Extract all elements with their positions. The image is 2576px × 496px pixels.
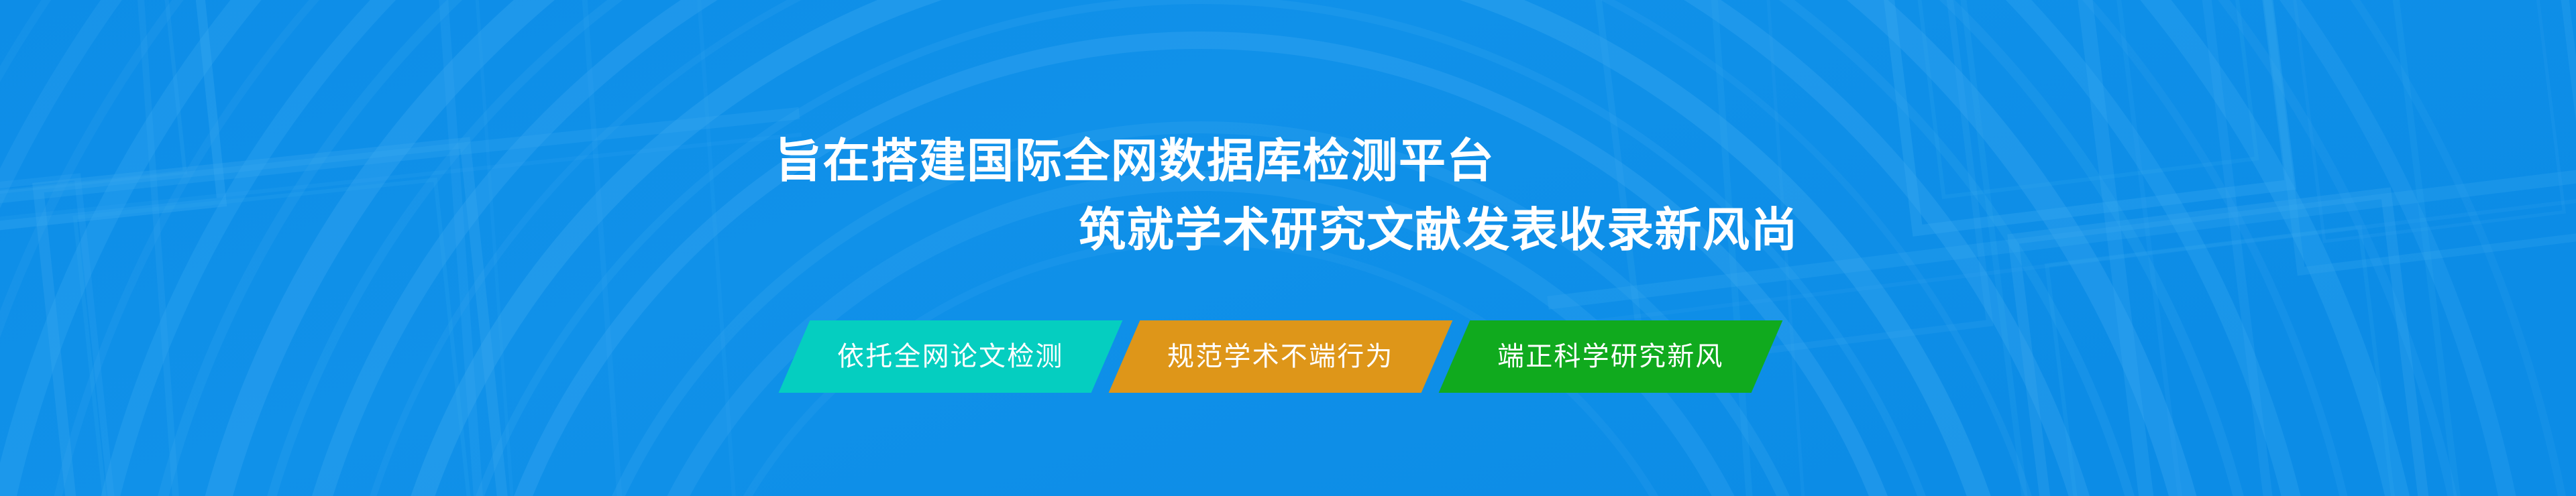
headline-line-2: 筑就学术研究文献发表收录新风尚 bbox=[1079, 203, 1799, 257]
headline-line-1: 旨在搭建国际全网数据库检测平台 bbox=[775, 134, 1495, 188]
feature-tag-strip: 依托全网论文检测 规范学术不端行为 端正科学研究新风 bbox=[0, 320, 2576, 393]
tag-detect[interactable]: 依托全网论文检测 bbox=[779, 320, 1123, 393]
headline-block: 旨在搭建国际全网数据库检测平台 筑就学术研究文献发表收录新风尚 bbox=[0, 0, 2576, 496]
tag-detect-label: 依托全网论文检测 bbox=[837, 343, 1064, 370]
tag-regulate-label: 规范学术不端行为 bbox=[1167, 343, 1394, 370]
tag-regulate[interactable]: 规范学术不端行为 bbox=[1109, 320, 1453, 393]
promo-banner: 旨在搭建国际全网数据库检测平台 筑就学术研究文献发表收录新风尚 依托全网论文检测… bbox=[0, 0, 2576, 496]
tag-rectify-label: 端正科学研究新风 bbox=[1497, 343, 1724, 370]
tag-rectify[interactable]: 端正科学研究新风 bbox=[1439, 320, 1783, 393]
